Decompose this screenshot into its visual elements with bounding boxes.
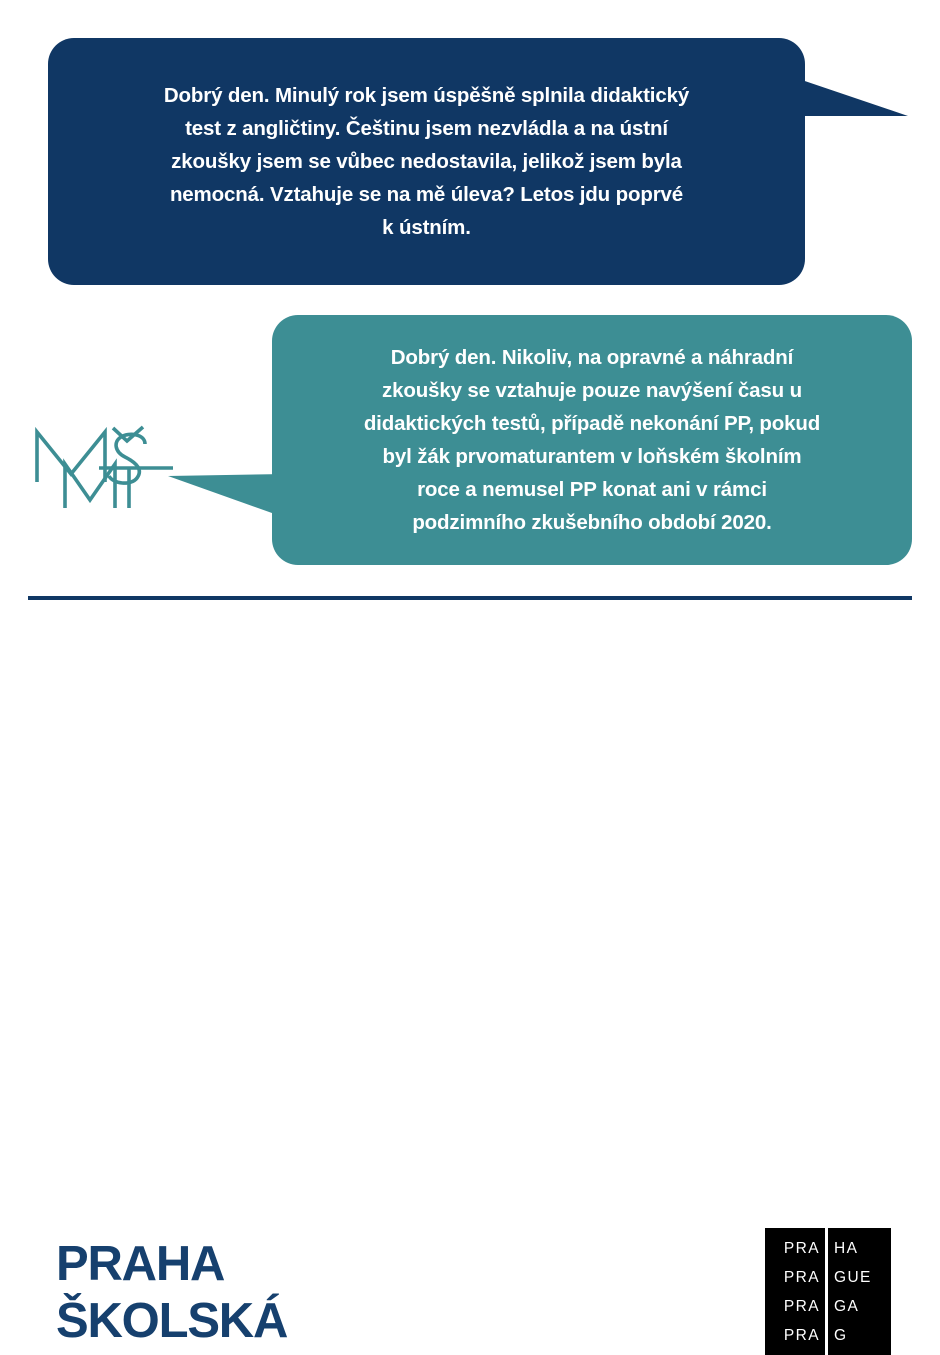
page-root: Dobrý den. Minulý rok jsem úspěšně splni… bbox=[0, 0, 940, 788]
prague-logo-line: PRA bbox=[784, 1321, 820, 1350]
question-bubble-tail-icon bbox=[790, 76, 910, 118]
answer-bubble: Dobrý den. Nikoliv, na opravné a náhradn… bbox=[272, 315, 912, 565]
prague-city-logo: PRA PRA PRA PRA HA GUE GA G bbox=[765, 1228, 891, 1355]
prague-logo-line: HA bbox=[834, 1234, 858, 1263]
question-bubble: Dobrý den. Minulý rok jsem úspěšně splni… bbox=[48, 38, 805, 285]
prague-logo-line: PRA bbox=[784, 1292, 820, 1321]
question-bubble-text: Dobrý den. Minulý rok jsem úspěšně splni… bbox=[130, 79, 723, 244]
footer: PRAHA ŠKOLSKÁ PRA PRA PRA PRA HA GUE GA … bbox=[0, 600, 940, 788]
answer-bubble-tail-icon bbox=[166, 474, 286, 520]
answer-bubble-text: Dobrý den. Nikoliv, na opravné a náhradn… bbox=[330, 341, 854, 539]
prague-logo-right-panel: HA GUE GA G bbox=[828, 1228, 891, 1355]
prague-logo-line: GUE bbox=[834, 1263, 872, 1292]
prague-logo-line: PRA bbox=[784, 1263, 820, 1292]
prague-logo-line: GA bbox=[834, 1292, 859, 1321]
prague-logo-line: PRA bbox=[784, 1234, 820, 1263]
msmt-logo-icon bbox=[33, 424, 178, 510]
conversation-area: Dobrý den. Minulý rok jsem úspěšně splni… bbox=[0, 0, 940, 598]
prague-logo-line: G bbox=[834, 1321, 847, 1350]
prague-logo-left-panel: PRA PRA PRA PRA bbox=[765, 1228, 825, 1355]
praha-skolska-wordmark: PRAHA ŠKOLSKÁ bbox=[56, 1236, 287, 1350]
